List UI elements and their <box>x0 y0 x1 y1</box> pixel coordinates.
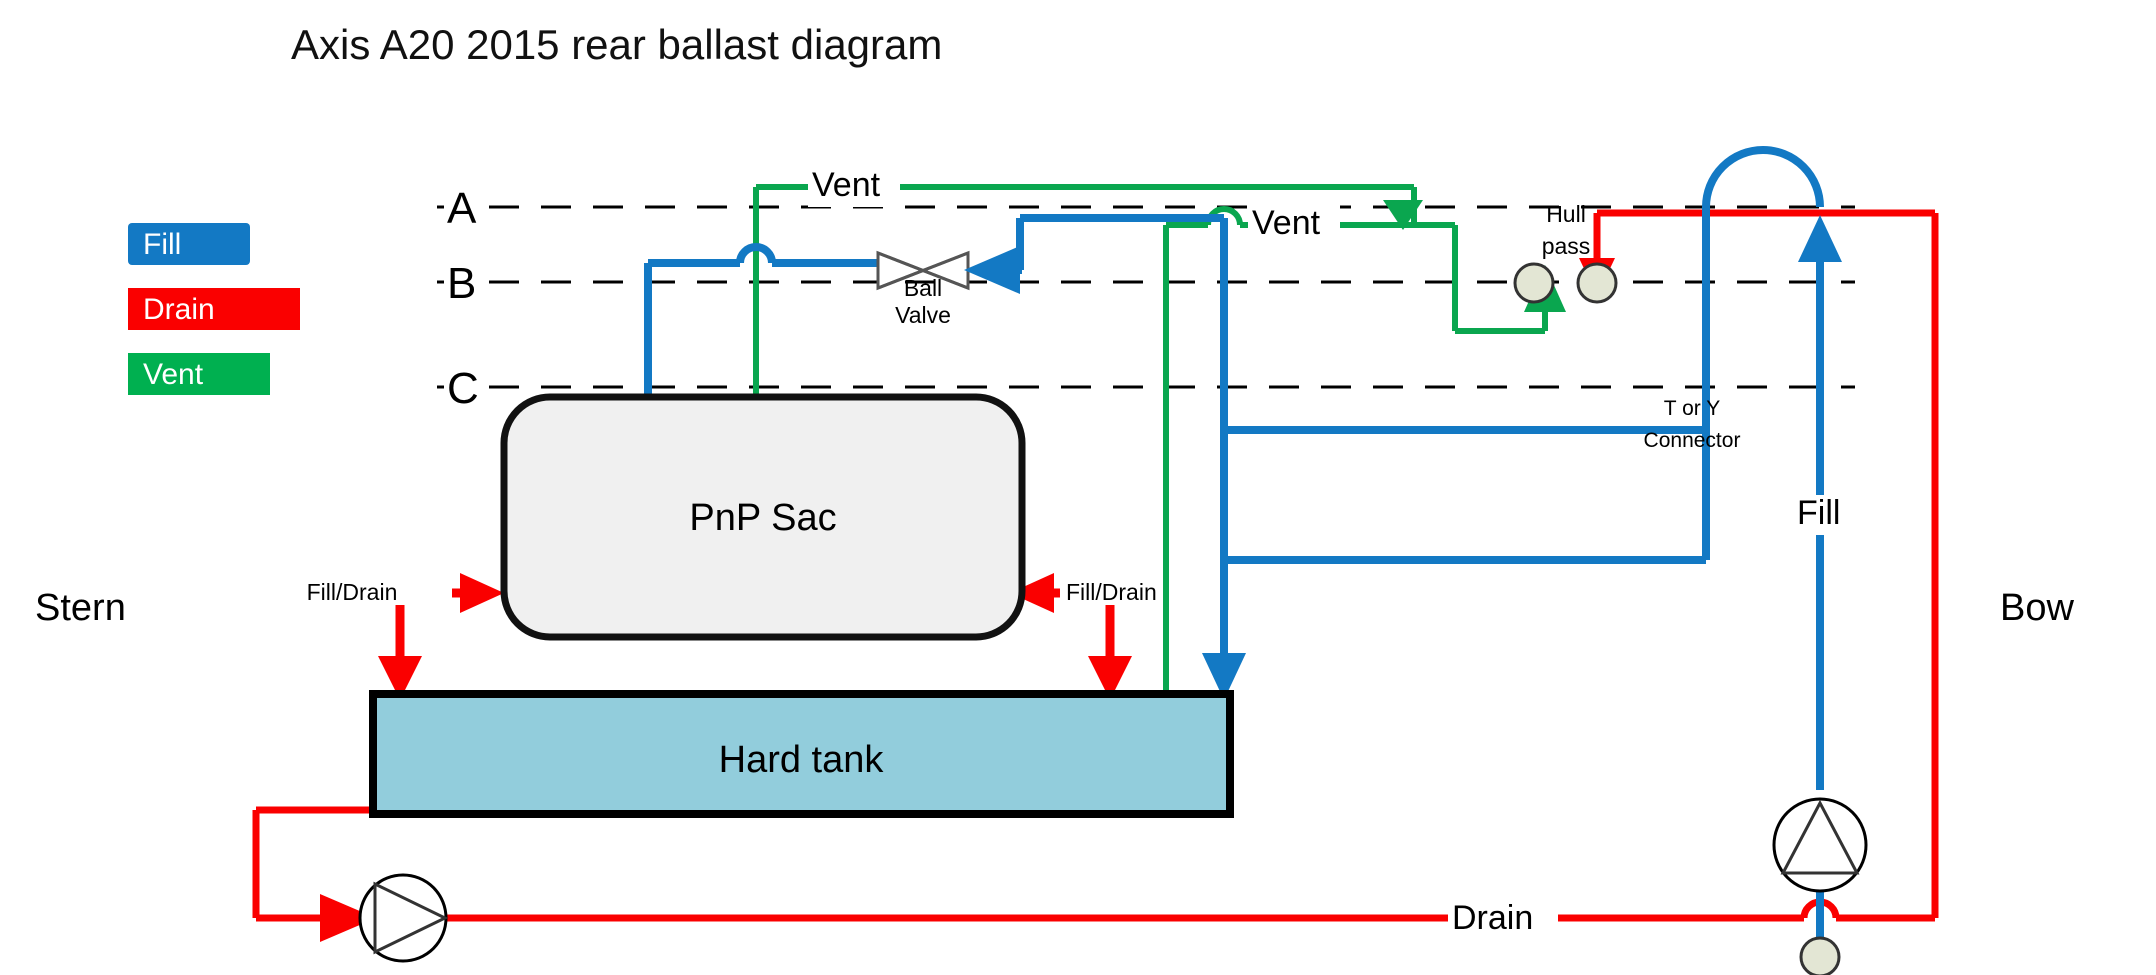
drain-bottom-label-group: Drain <box>1448 899 1558 940</box>
ball-valve: Ball Valve <box>878 253 968 328</box>
stern-pump <box>360 875 446 961</box>
vent-b-label: Vent <box>1252 204 1321 242</box>
pnp-sac-label: PnP Sac <box>689 497 836 539</box>
legend-label-vent: Vent <box>143 358 204 391</box>
vent-a-label: Vent <box>812 166 881 204</box>
ty-connector-label-1: T or Y <box>1664 397 1720 420</box>
legend-item-vent: Vent <box>128 353 270 395</box>
fill-bow-arrow <box>1798 215 1842 262</box>
fill-ballvalve-arrow <box>964 246 1020 294</box>
fill-drain-left-label: Fill/Drain <box>307 579 398 605</box>
bow-thru-hull-fitting <box>1801 938 1839 975</box>
drain-bottom-label: Drain <box>1452 899 1533 937</box>
ballast-diagram-svg: Axis A20 2015 rear ballast diagram A B C… <box>0 0 2156 975</box>
hard-tank-label: Hard tank <box>719 739 885 781</box>
hull-pass-label-1: Hull <box>1546 201 1586 227</box>
legend-label-drain: Drain <box>143 293 215 326</box>
ty-connector-group: T or Y Connector <box>1644 397 1741 452</box>
level-labels-group: A B C <box>444 180 486 414</box>
legend-item-fill: Fill <box>128 223 250 265</box>
diagram-canvas: Axis A20 2015 rear ballast diagram A B C… <box>0 0 2156 975</box>
level-label-a: A <box>447 184 477 233</box>
fill-drain-left-sac-arrow <box>460 573 504 613</box>
page-title: Axis A20 2015 rear ballast diagram <box>291 21 942 68</box>
ty-connector-label-2: Connector <box>1644 429 1741 452</box>
thru-hull-fitting-drain <box>1578 264 1616 302</box>
legend: Fill Drain Vent <box>128 223 300 395</box>
hull-pass-label-2: pass <box>1542 233 1591 259</box>
stern-label: Stern <box>35 587 126 629</box>
thru-hull-fitting-vent <box>1515 264 1553 302</box>
fill-deck-loop <box>1706 150 1820 207</box>
hard-tank: Hard tank <box>373 694 1230 814</box>
level-label-b: B <box>447 259 476 308</box>
stern-pump-circle <box>360 875 446 961</box>
legend-item-drain: Drain <box>128 288 300 330</box>
ball-valve-label-2: Valve <box>895 302 951 328</box>
ball-valve-label-1: Ball <box>904 275 942 301</box>
pnp-sac: PnP Sac <box>504 397 1022 637</box>
bow-label: Bow <box>2000 587 2074 629</box>
bow-pump <box>1774 799 1866 975</box>
fill-drain-right-label: Fill/Drain <box>1066 579 1157 605</box>
level-label-c: C <box>447 364 479 413</box>
fill-right-label: Fill <box>1797 494 1840 532</box>
legend-label-fill: Fill <box>143 228 181 261</box>
bow-pump-circle <box>1774 799 1866 891</box>
